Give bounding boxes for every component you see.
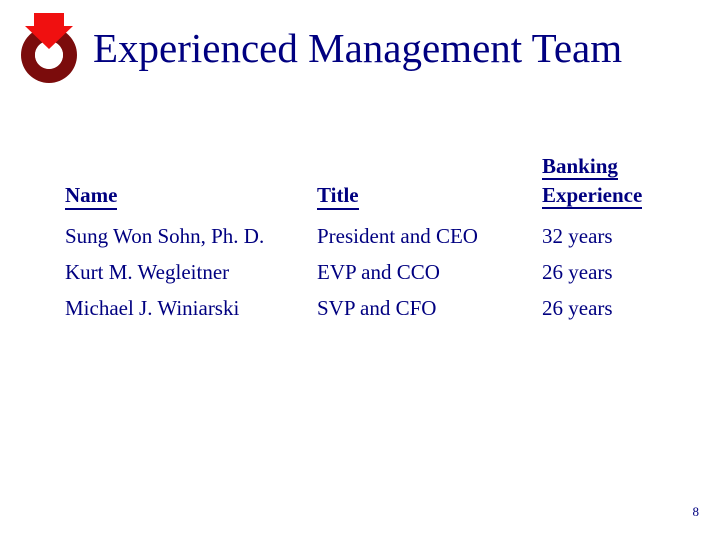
cell-name: Sung Won Sohn, Ph. D. <box>65 211 317 254</box>
table-row: Kurt M. Wegleitner EVP and CCO 26 years <box>65 254 685 290</box>
cell-experience: 26 years <box>542 254 685 290</box>
page-title: Experienced Management Team <box>93 24 693 72</box>
slide-canvas: Experienced Management Team Name Title B… <box>0 0 720 540</box>
table-row: Sung Won Sohn, Ph. D. President and CEO … <box>65 211 685 254</box>
column-header-banking-line1: Banking <box>542 152 685 181</box>
column-header-title: Title <box>317 152 542 211</box>
cell-title: SVP and CFO <box>317 290 542 326</box>
cell-name: Michael J. Winiarski <box>65 290 317 326</box>
management-team-table: Name Title Banking Experience Sung Won S… <box>65 152 685 326</box>
cell-title: EVP and CCO <box>317 254 542 290</box>
column-header-name-label: Name <box>65 183 117 210</box>
page-number: 8 <box>693 505 700 519</box>
column-header-banking-experience: Banking Experience <box>542 152 685 211</box>
company-logo <box>12 11 86 85</box>
column-header-banking-experience-stack: Banking Experience <box>542 152 685 210</box>
column-header-banking-line2: Experience <box>542 181 685 210</box>
cell-experience: 26 years <box>542 290 685 326</box>
cell-title: President and CEO <box>317 211 542 254</box>
cell-name: Kurt M. Wegleitner <box>65 254 317 290</box>
table-header-row: Name Title Banking Experience <box>65 152 685 211</box>
cell-experience: 32 years <box>542 211 685 254</box>
table-row: Michael J. Winiarski SVP and CFO 26 year… <box>65 290 685 326</box>
company-logo-icon <box>12 11 86 85</box>
column-header-name: Name <box>65 152 317 211</box>
column-header-title-label: Title <box>317 183 359 210</box>
